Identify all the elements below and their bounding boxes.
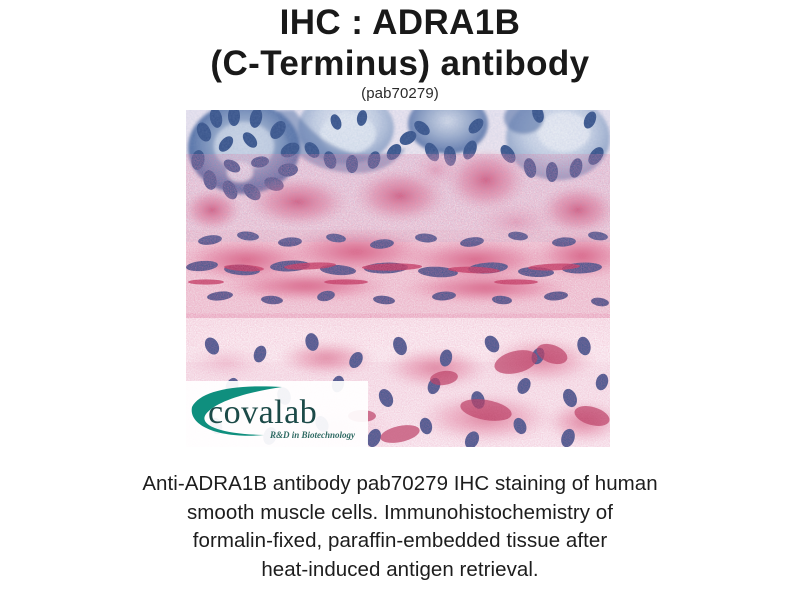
- page-subtitle: (C-Terminus) antibody: [0, 43, 800, 84]
- covalab-wordmark: covalab: [208, 394, 317, 431]
- figure-page: IHC : ADRA1B (C-Terminus) antibody (pab7…: [0, 0, 800, 600]
- caption-line: smooth muscle cells. Immunohistochemistr…: [0, 499, 800, 528]
- figure-title-block: IHC : ADRA1B (C-Terminus) antibody (pab7…: [0, 0, 800, 103]
- catalog-number: (pab70279): [0, 85, 800, 103]
- figure-caption: Anti-ADRA1B antibody pab70279 IHC staini…: [0, 470, 800, 584]
- page-title: IHC : ADRA1B: [0, 2, 800, 43]
- covalab-watermark: covalab R&D in Biotechnology: [186, 381, 368, 447]
- caption-line: heat-induced antigen retrieval.: [0, 556, 800, 585]
- micrograph-image: covalab R&D in Biotechnology: [186, 110, 610, 447]
- caption-line: Anti-ADRA1B antibody pab70279 IHC staini…: [0, 470, 800, 499]
- covalab-tagline: R&D in Biotechnology: [269, 430, 356, 440]
- caption-line: formalin-fixed, paraffin-embedded tissue…: [0, 527, 800, 556]
- covalab-logo-icon: covalab R&D in Biotechnology: [186, 381, 368, 447]
